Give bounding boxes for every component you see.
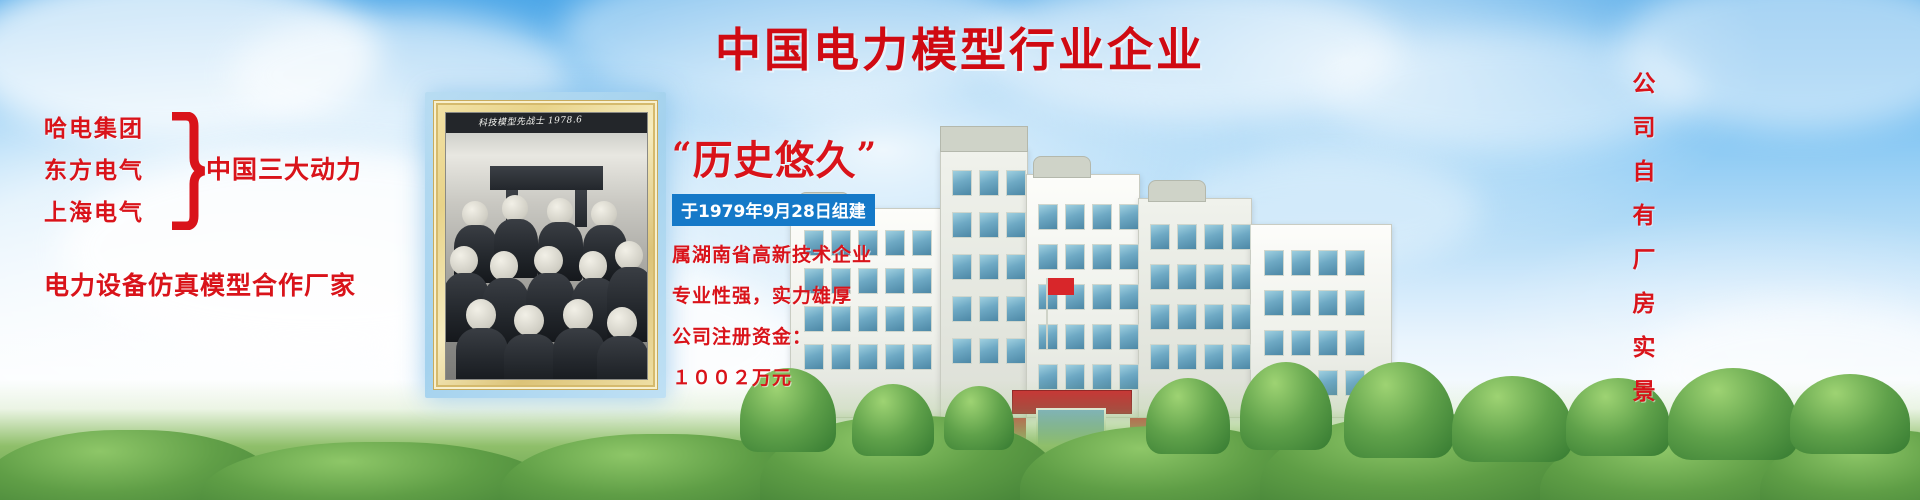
curly-brace-icon xyxy=(166,112,206,230)
vertical-caption-char: 厂 xyxy=(1622,238,1666,282)
vertical-caption-char: 景 xyxy=(1622,370,1666,414)
brand-list: 哈电集团 东方电气 上海电气 xyxy=(44,108,164,234)
vertical-caption-char: 司 xyxy=(1622,106,1666,150)
photo-person xyxy=(591,201,617,228)
photo-person xyxy=(462,201,488,228)
photo-person xyxy=(607,307,637,339)
photo-person xyxy=(534,246,562,275)
photo-person xyxy=(490,251,518,280)
vertical-caption-char: 实 xyxy=(1622,326,1666,370)
photo-person xyxy=(597,336,648,380)
photo-person xyxy=(456,328,508,380)
photo-table xyxy=(490,166,603,190)
quote-close: ” xyxy=(857,135,878,175)
historic-group-photo: 科技模型先战士 1978.6 xyxy=(445,112,648,380)
photo-table-leg xyxy=(575,190,587,227)
founded-badge: 于1979年9月28日组建 xyxy=(672,194,875,226)
history-copy-block: “历史悠久” 于1979年9月28日组建 属湖南省高新技术企业 专业性强，实力雄… xyxy=(672,128,912,390)
quote-open: “ xyxy=(672,135,693,175)
history-detail-line: 公司注册资金： xyxy=(672,322,912,349)
flag-cloth xyxy=(1048,278,1074,295)
brand-item: 东方电气 xyxy=(44,150,164,192)
vertical-caption: 公 司 自 有 厂 房 实 景 xyxy=(1622,62,1666,414)
photo-person xyxy=(504,334,556,380)
photo-person xyxy=(579,251,607,280)
history-detail-line: 专业性强，实力雄厚 xyxy=(672,281,912,308)
historic-photo-frame: 科技模型先战士 1978.6 xyxy=(425,92,666,398)
photo-person xyxy=(502,195,528,222)
photo-person xyxy=(547,198,573,225)
history-detail-line: １００２万元 xyxy=(672,363,912,390)
flagpole xyxy=(1046,278,1048,350)
promo-banner: 中国电力模型行业企业 哈电集团 东方电气 上海电气 中国三大动力 电力设备仿真模… xyxy=(0,0,1920,500)
partner-line: 电力设备仿真模型合作厂家 xyxy=(44,266,356,302)
vertical-caption-char: 有 xyxy=(1622,194,1666,238)
photo-mat: 科技模型先战士 1978.6 xyxy=(433,100,658,390)
vertical-caption-char: 房 xyxy=(1622,282,1666,326)
history-detail-line: 属湖南省高新技术企业 xyxy=(672,240,912,267)
photo-person xyxy=(615,241,643,270)
history-headline-text: 历史悠久 xyxy=(693,138,857,184)
photo-person xyxy=(563,299,593,331)
photo-caption-text: 科技模型先战士 1978.6 xyxy=(478,112,583,129)
brand-item: 哈电集团 xyxy=(44,108,164,150)
three-power-label: 中国三大动力 xyxy=(206,150,362,186)
vertical-caption-char: 自 xyxy=(1622,150,1666,194)
photo-caption-bar: 科技模型先战士 1978.6 xyxy=(446,113,647,133)
brand-item: 上海电气 xyxy=(44,192,164,234)
history-headline: “历史悠久” xyxy=(672,128,912,186)
vertical-caption-char: 公 xyxy=(1622,62,1666,106)
